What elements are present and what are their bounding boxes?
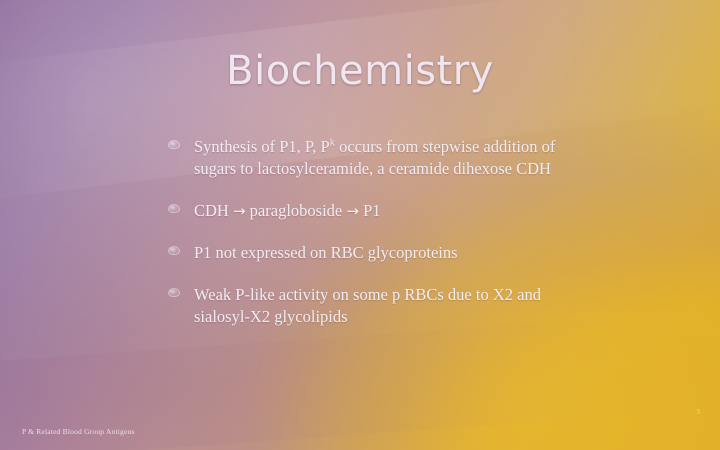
list-item: CDH → paragloboside → P1: [168, 200, 568, 222]
list-item-text: P1 not expressed on RBC glycoproteins: [194, 242, 568, 264]
list-item-text: Synthesis of P1, P, Pk occurs from stepw…: [194, 136, 568, 180]
slide-page-number: 3: [696, 407, 700, 416]
slide-footer: P & Related Blood Group Antigens: [22, 427, 135, 436]
presentation-slide: Biochemistry Synthesis of P1, P, Pk occu…: [0, 0, 720, 450]
list-item: Weak P-like activity on some p RBCs due …: [168, 284, 568, 328]
list-item: P1 not expressed on RBC glycoproteins: [168, 242, 568, 264]
arrow-icon: →: [346, 202, 359, 220]
list-item-text: CDH → paragloboside → P1: [194, 200, 568, 222]
slide-title: Biochemistry: [0, 48, 720, 94]
bullet-marker-icon: [168, 288, 180, 297]
list-item-text: Weak P-like activity on some p RBCs due …: [194, 284, 568, 328]
bullet-marker-icon: [168, 246, 180, 255]
arrow-icon: →: [233, 202, 246, 220]
list-item: Synthesis of P1, P, Pk occurs from stepw…: [168, 136, 568, 180]
superscript-text: k: [330, 138, 335, 149]
bullet-marker-icon: [168, 140, 180, 149]
bullet-marker-icon: [168, 204, 180, 213]
bullet-list: Synthesis of P1, P, Pk occurs from stepw…: [168, 136, 568, 328]
